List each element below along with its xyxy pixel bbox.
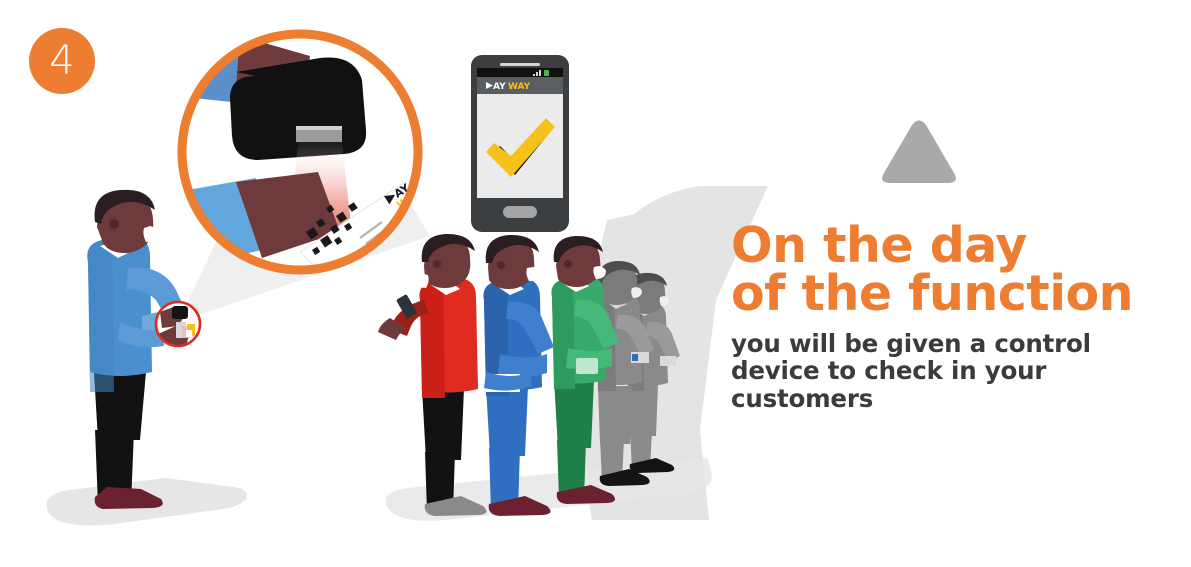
step-number-text: 4 — [49, 41, 74, 81]
scan-highlight-hotspot — [156, 302, 200, 346]
poster-canvas: AY WAY — [0, 0, 1191, 567]
customer-blue — [484, 235, 554, 516]
step-number-badge: 4 — [29, 28, 95, 94]
triangle-hotspot — [879, 118, 959, 186]
subcopy-line-2: device to check in your — [731, 357, 1171, 384]
subcopy-line-1: you will be given a control — [731, 330, 1171, 357]
headline: On the day of the function — [731, 222, 1171, 317]
customer-red — [378, 234, 487, 516]
headline-line-2: of the function — [731, 270, 1171, 318]
magnifier-lens-hotspot — [182, 34, 418, 270]
staff-figure — [87, 190, 190, 509]
copy-block: On the day of the function you will be g… — [731, 222, 1171, 412]
subcopy: you will be given a control device to ch… — [731, 330, 1171, 412]
subcopy-line-3: customers — [731, 385, 1171, 412]
smartphone-hotspot — [471, 55, 569, 232]
